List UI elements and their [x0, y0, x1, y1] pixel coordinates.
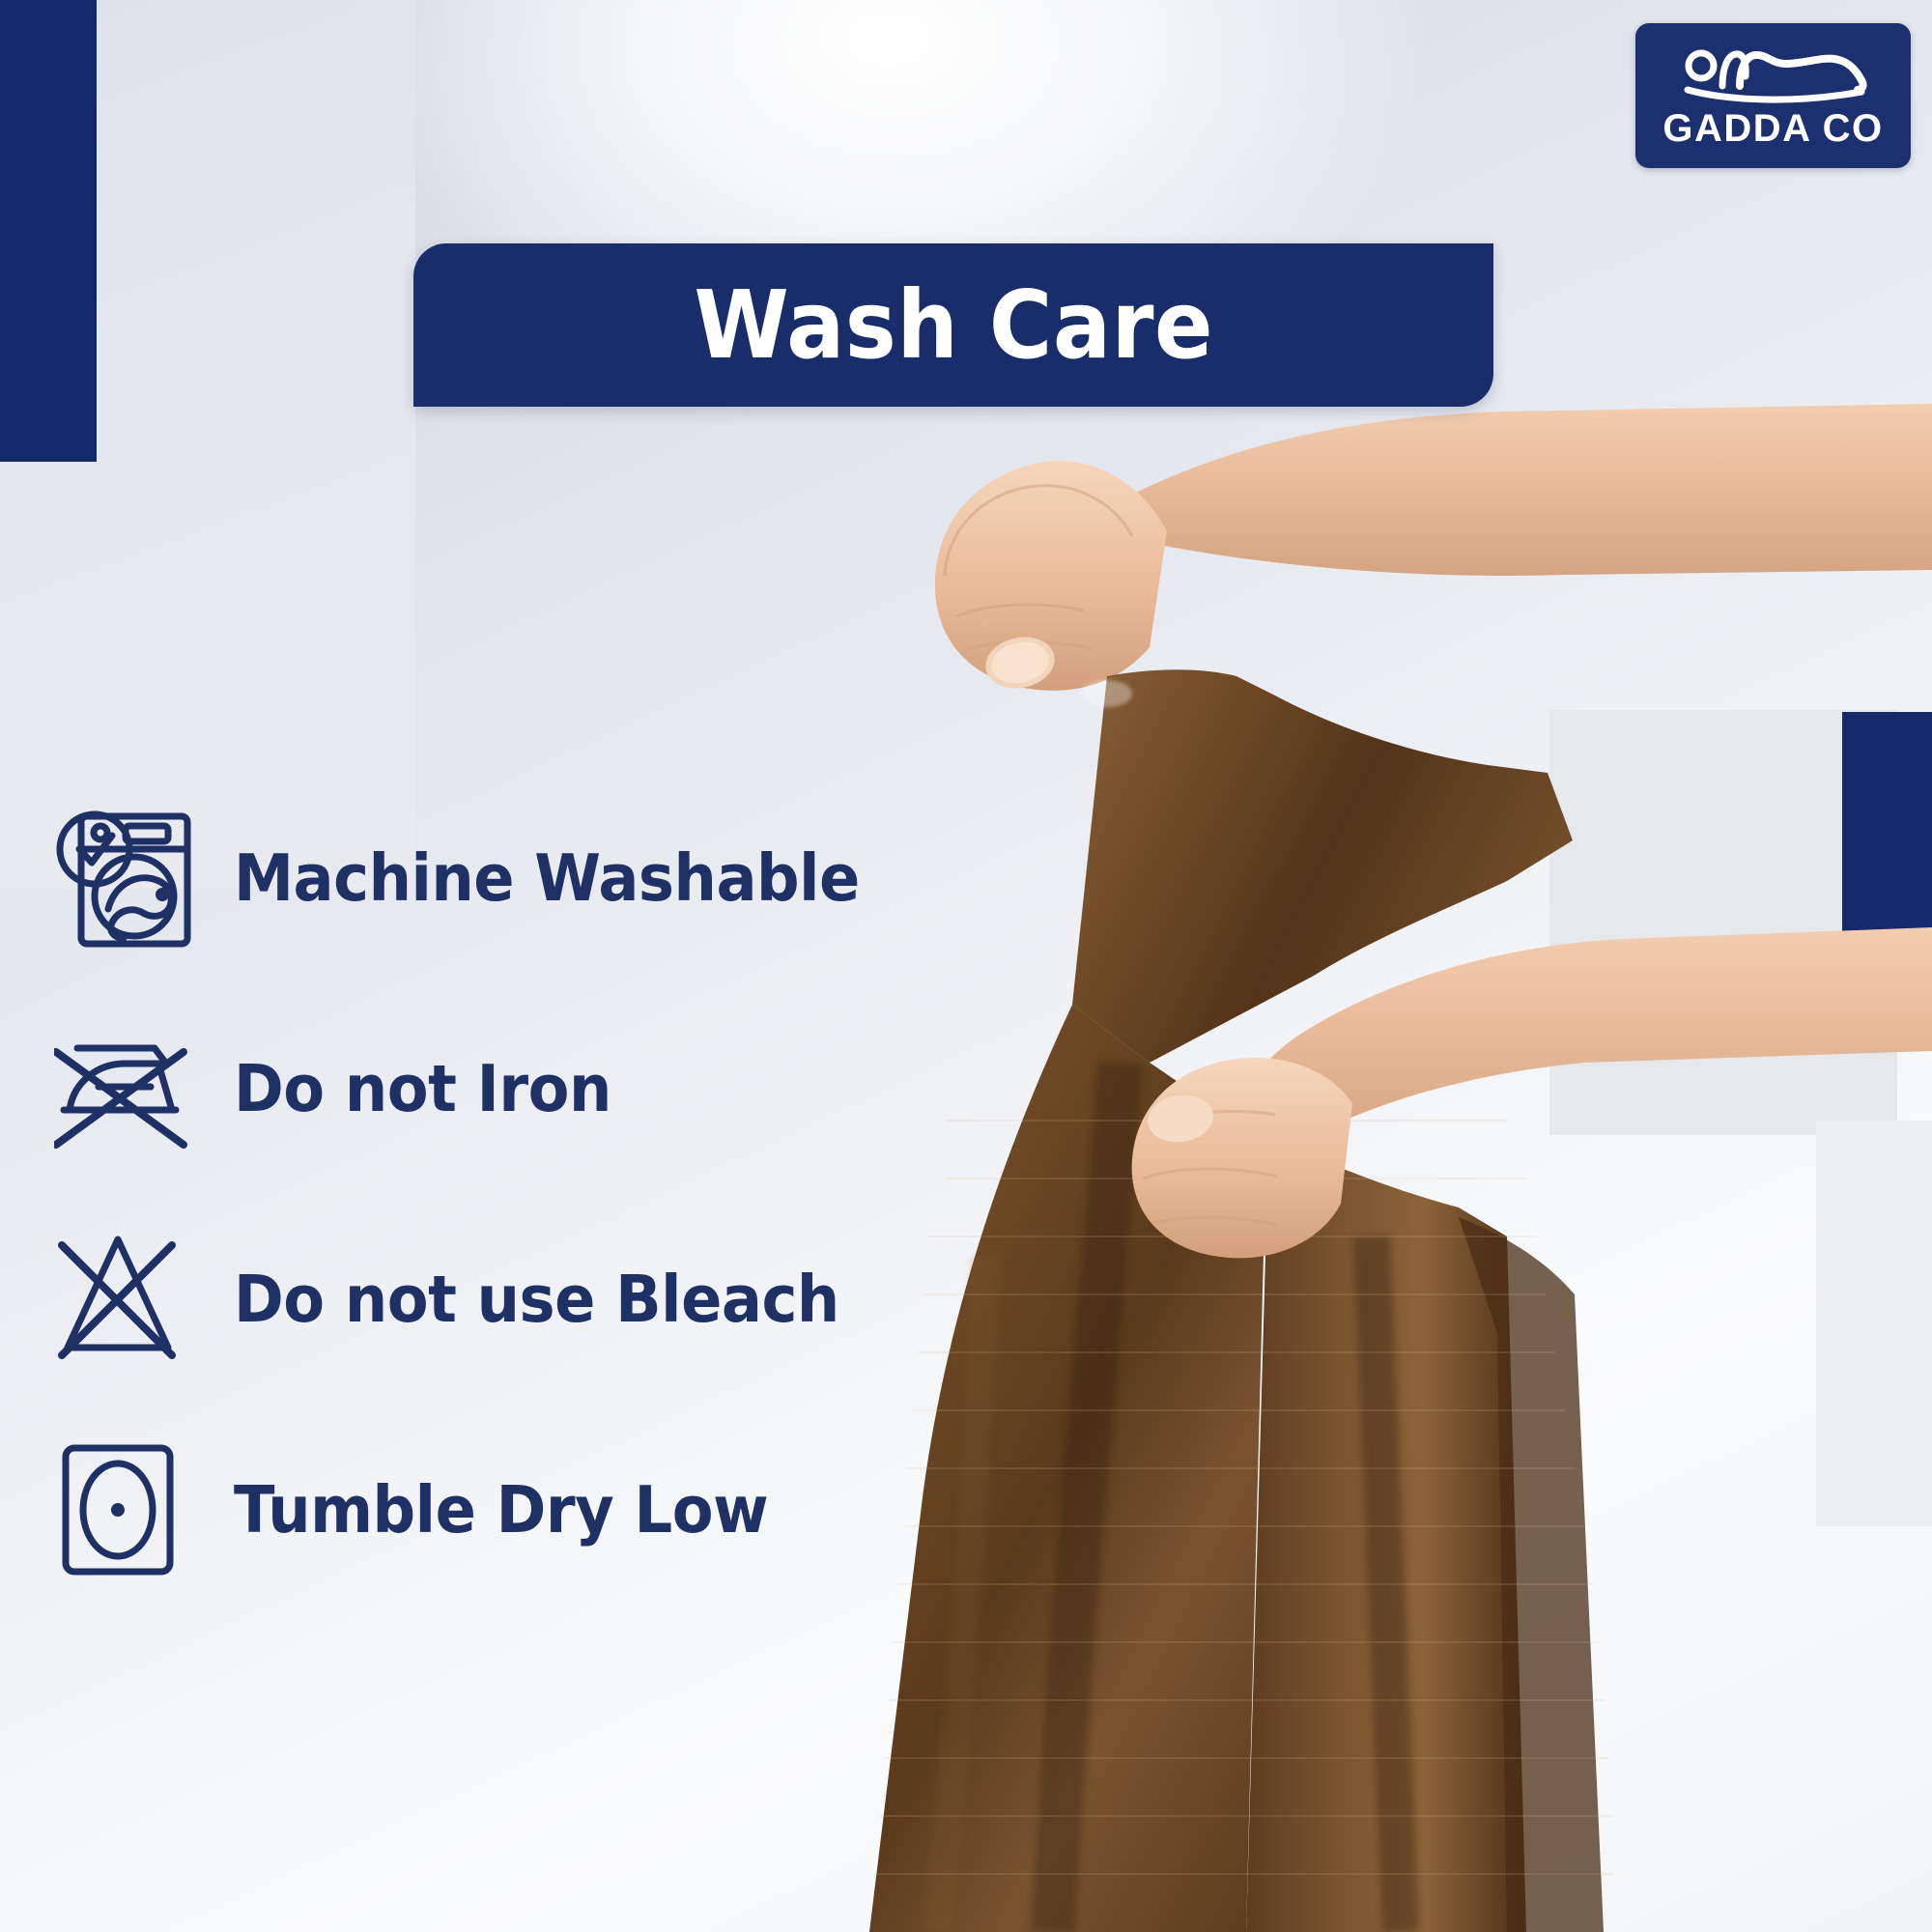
care-instructions-list: Machine Washable Do not Iron — [48, 773, 1024, 1615]
care-row-machine-washable: Machine Washable — [48, 773, 1024, 983]
care-row-do-not-iron: Do not Iron — [48, 983, 1024, 1194]
do-not-iron-icon — [48, 1008, 211, 1170]
brand-logo[interactable]: GADDA CO — [1635, 23, 1911, 168]
do-not-bleach-icon — [48, 1218, 211, 1380]
logo-wordmark: GADDA CO — [1662, 109, 1883, 148]
wash-care-infographic: GADDA CO Wash Care — [0, 0, 1932, 1932]
washing-machine-check-icon — [48, 797, 211, 959]
care-row-tumble-dry-low: Tumble Dry Low — [48, 1405, 1024, 1615]
care-label-do-not-bleach: Do not use Bleach — [234, 1262, 839, 1337]
care-row-do-not-bleach: Do not use Bleach — [48, 1194, 1024, 1405]
decorative-navy-arch — [0, 0, 97, 462]
page-title-banner: Wash Care — [413, 243, 1493, 407]
care-label-tumble-dry-low: Tumble Dry Low — [234, 1472, 768, 1548]
page-title: Wash Care — [694, 278, 1213, 372]
care-label-do-not-iron: Do not Iron — [234, 1051, 611, 1126]
tumble-dry-low-icon — [48, 1429, 211, 1591]
sleeping-person-mattress-icon — [1672, 43, 1875, 103]
care-label-machine-washable: Machine Washable — [234, 840, 860, 916]
